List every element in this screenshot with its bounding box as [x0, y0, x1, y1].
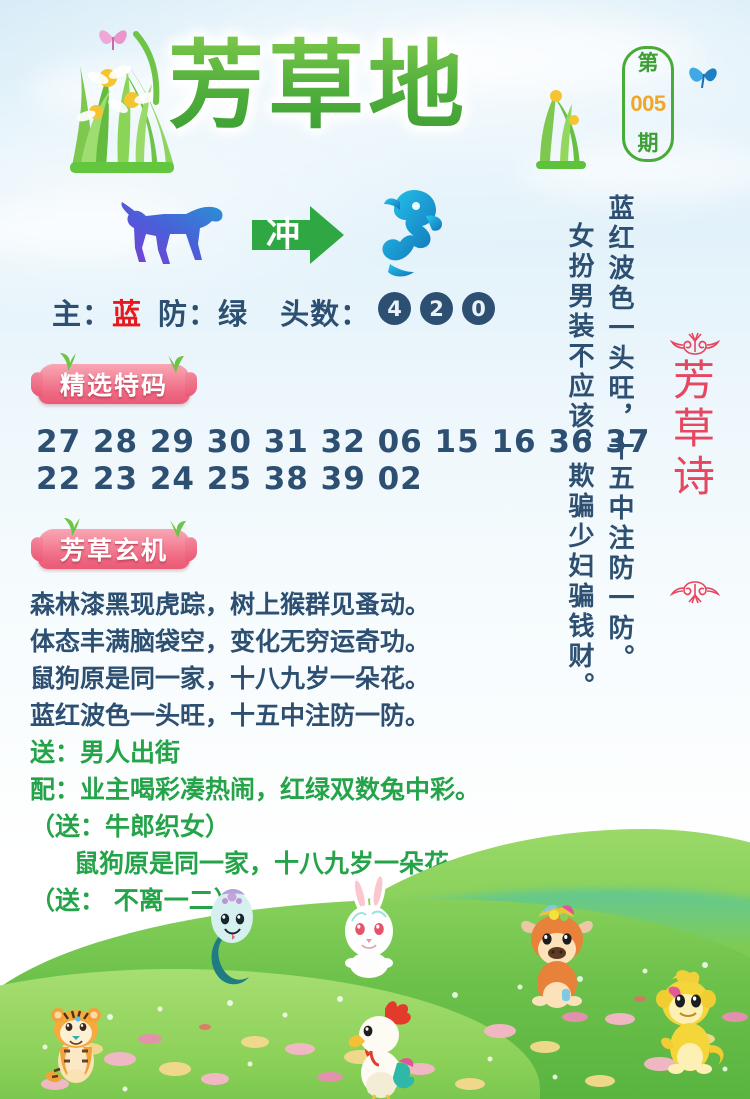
dragon-icon: [370, 186, 446, 282]
animal-transition-row: 冲: [0, 186, 560, 282]
ox-icon: [518, 903, 596, 1011]
issue-suffix: 期: [638, 133, 659, 155]
poem-line: 蓝红波色一头旺，十五中注防一防。: [30, 697, 545, 734]
flourish-ornament-icon: [664, 580, 726, 604]
butterfly-icon: [686, 58, 720, 90]
leaf-icon: [168, 353, 184, 373]
special-code-list: 27 28 29 30 31 32 06 15 16 36 37 22 23 2…: [36, 424, 650, 498]
code-line: 27 28 29 30 31 32 06 15 16 36 37: [36, 424, 650, 461]
rabbit-icon: [338, 869, 400, 979]
poem-line: 森林漆黑现虎踪，树上猴群见蚤动。: [30, 586, 545, 623]
guard-label: 防：: [158, 297, 218, 331]
code-line: 22 23 24 25 38 39 02: [36, 461, 650, 498]
butterfly-icon: [96, 22, 130, 52]
head-digit: 2: [420, 292, 453, 325]
badge-label: 芳草玄机: [60, 531, 168, 567]
head-count-label: 头数：: [280, 297, 370, 331]
section-badge-special-codes: 精选特码: [38, 364, 190, 404]
poster-header: 芳草地 第 005 期: [0, 0, 750, 180]
vertical-poem-title: 芳草诗: [668, 358, 713, 502]
vertical-poem-right: 蓝红波色一头旺，十五中注防一防。: [606, 194, 632, 794]
rooster-icon: [345, 991, 417, 1099]
grass-sprig-icon: [520, 62, 600, 170]
flourish-ornament-icon: [664, 332, 726, 356]
meadow-footer: [0, 809, 750, 1099]
guard-value: 绿: [218, 297, 248, 331]
section-badge-riddle: 芳草玄机: [38, 529, 190, 569]
issue-prefix: 第: [638, 53, 659, 75]
dog-icon: [120, 194, 230, 268]
poster-root: 芳草地 第 005 期: [0, 0, 750, 1099]
tiger-icon: [42, 999, 110, 1087]
head-digit: 4: [378, 292, 411, 325]
host-label: 主：: [52, 297, 112, 331]
host-value: 蓝: [112, 297, 142, 331]
issue-seal: 第 005 期: [622, 46, 674, 162]
badge-label: 精选特码: [60, 366, 168, 402]
poem-line: 鼠狗原是同一家，十八九岁一朵花。: [30, 660, 545, 697]
head-digit-group: 4 2 0: [378, 292, 495, 325]
poem-line: 送：男人出街: [30, 734, 545, 771]
page-title: 芳草地: [168, 32, 468, 140]
arrow-right-icon: [252, 204, 344, 266]
poem-line: 体态丰满脑袋空，变化无穷运奇功。: [30, 623, 545, 660]
issue-number: 005: [630, 91, 665, 117]
leaf-icon: [170, 518, 186, 538]
leaf-icon: [64, 516, 80, 536]
monkey-icon: [652, 969, 732, 1081]
vertical-poem-left: 女扮男装不应该，欺骗少妇骗钱财。: [566, 222, 592, 802]
main-prediction-line: 主：蓝防：绿头数：: [52, 291, 370, 333]
poem-line: 配：业主喝彩凑热闹，红绿双数兔中彩。: [30, 771, 545, 808]
leaf-icon: [60, 351, 76, 371]
head-digit: 0: [462, 292, 495, 325]
snake-icon: [205, 887, 261, 1007]
